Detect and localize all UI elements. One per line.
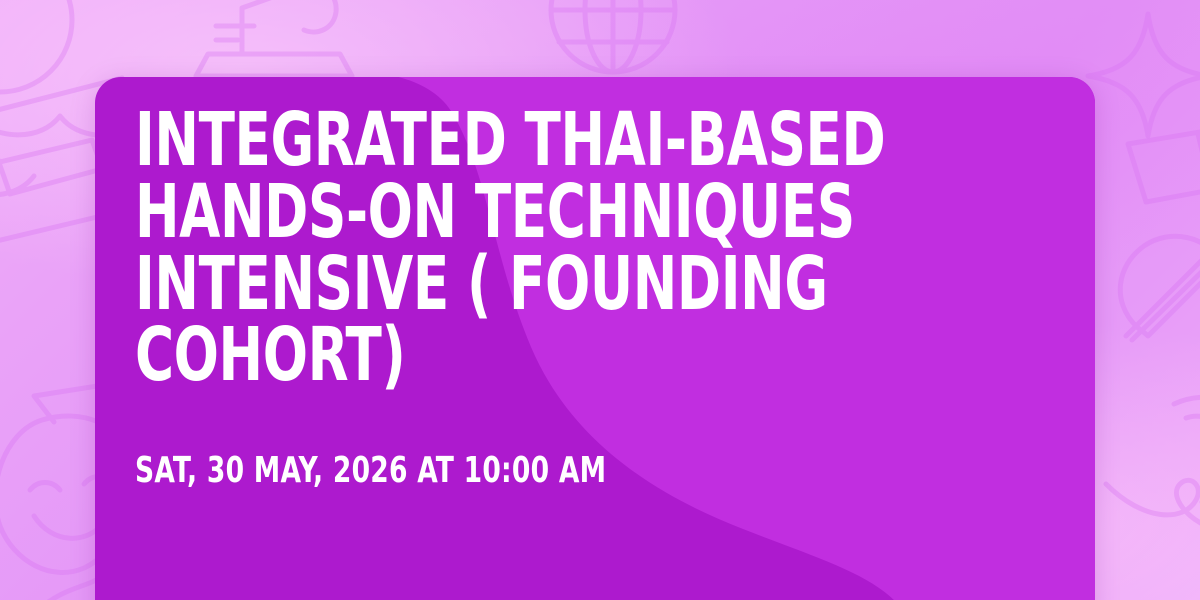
ticket-stub-icon	[1112, 108, 1200, 238]
event-banner: INTEGRATED THAI-BASED HANDS-ON TECHNIQUE…	[0, 0, 1200, 600]
event-card: INTEGRATED THAI-BASED HANDS-ON TECHNIQUE…	[95, 77, 1095, 600]
circle-outline-icon	[0, 0, 100, 120]
event-title: INTEGRATED THAI-BASED HANDS-ON TECHNIQUE…	[135, 105, 1095, 392]
microphone-icon	[1096, 228, 1200, 418]
event-date: SAT, 30 MAY, 2026 AT 10:00 AM	[135, 453, 873, 489]
card-content: INTEGRATED THAI-BASED HANDS-ON TECHNIQUE…	[135, 105, 1055, 600]
balloon-swirl-icon	[1078, 396, 1200, 600]
